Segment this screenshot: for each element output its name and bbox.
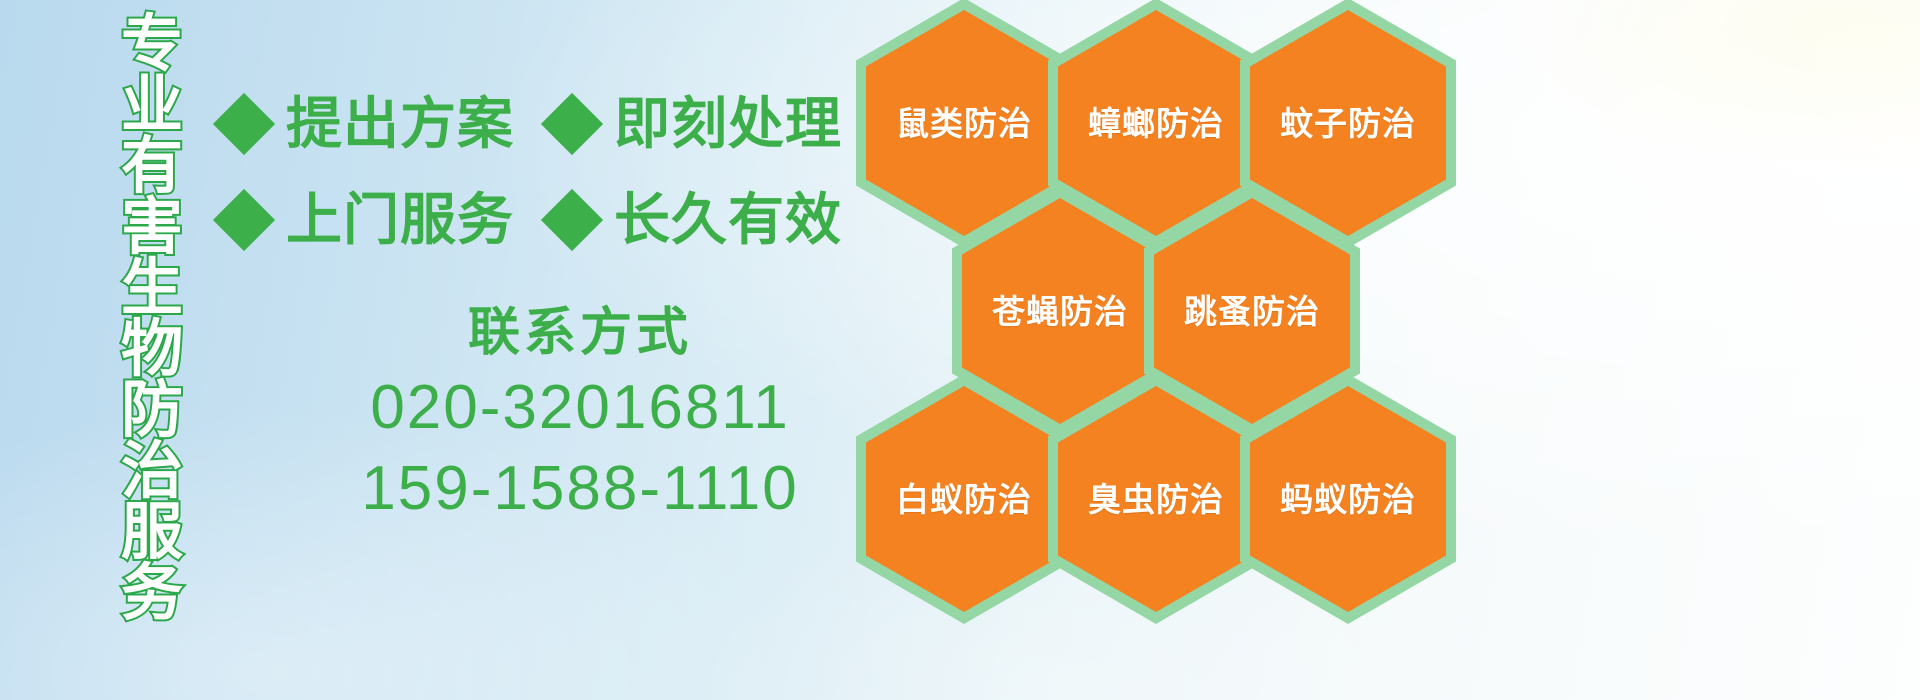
vertical-headline-char: 治 [121, 441, 183, 503]
feature-label: 提出方案 [286, 96, 514, 152]
service-hex-label: 蟑螂防治 [1088, 107, 1224, 140]
vertical-headline-char: 务 [121, 563, 183, 625]
feature-row: 提出方案 即刻处理 [222, 76, 882, 172]
service-hex-fill: 白蚁防治 [866, 386, 1062, 612]
service-hex-label: 鼠类防治 [896, 107, 1032, 140]
feature-item: 长久有效 [550, 192, 842, 248]
service-honeycomb: 鼠类防治 蟑螂防治 蚊子防治 苍蝇防治 跳蚤防治 白蚁防治 [846, 0, 1466, 588]
feature-item: 上门服务 [222, 192, 514, 248]
vertical-headline-char: 生 [121, 258, 183, 320]
feature-label: 长久有效 [614, 192, 842, 248]
vertical-headline-char: 有 [121, 136, 183, 198]
contact-phone-landline[interactable]: 020-32016811 [300, 367, 860, 449]
vertical-headline-char: 服 [121, 502, 183, 564]
service-hex-label: 蚊子防治 [1280, 107, 1416, 140]
service-hex-label: 白蚁防治 [896, 483, 1032, 516]
diamond-icon [541, 93, 603, 155]
feature-label: 上门服务 [286, 192, 514, 248]
feature-item: 提出方案 [222, 96, 514, 152]
diamond-icon [213, 93, 275, 155]
service-hex-label: 臭虫防治 [1088, 483, 1224, 516]
service-hex-label: 跳蚤防治 [1184, 295, 1320, 328]
vertical-headline-char: 专 [121, 14, 183, 76]
service-hex-label: 苍蝇防治 [992, 295, 1128, 328]
vertical-headline: 专 业 有 害 生 物 防 治 服 务 [104, 14, 200, 554]
service-hex-label: 蚂蚁防治 [1280, 483, 1416, 516]
contact-block: 联系方式 020-32016811 159-1588-1110 [300, 300, 860, 530]
feature-list: 提出方案 即刻处理 上门服务 长久有效 [222, 76, 882, 268]
service-hex-fill: 蚂蚁防治 [1250, 386, 1446, 612]
feature-label: 即刻处理 [614, 96, 842, 152]
vertical-headline-char: 物 [121, 319, 183, 381]
vertical-headline-char: 防 [121, 380, 183, 442]
feature-item: 即刻处理 [550, 96, 842, 152]
diamond-icon [213, 189, 275, 251]
vertical-headline-char: 业 [121, 75, 183, 137]
vertical-headline-char: 害 [121, 197, 183, 259]
contact-phone-mobile[interactable]: 159-1588-1110 [300, 448, 860, 530]
feature-row: 上门服务 长久有效 [222, 172, 882, 268]
pest-control-banner: 专 业 有 害 生 物 防 治 服 务 提出方案 即刻处理 上门服务 [0, 0, 1920, 700]
service-hex-fill: 臭虫防治 [1058, 386, 1254, 612]
contact-title: 联系方式 [300, 300, 860, 367]
diamond-icon [541, 189, 603, 251]
